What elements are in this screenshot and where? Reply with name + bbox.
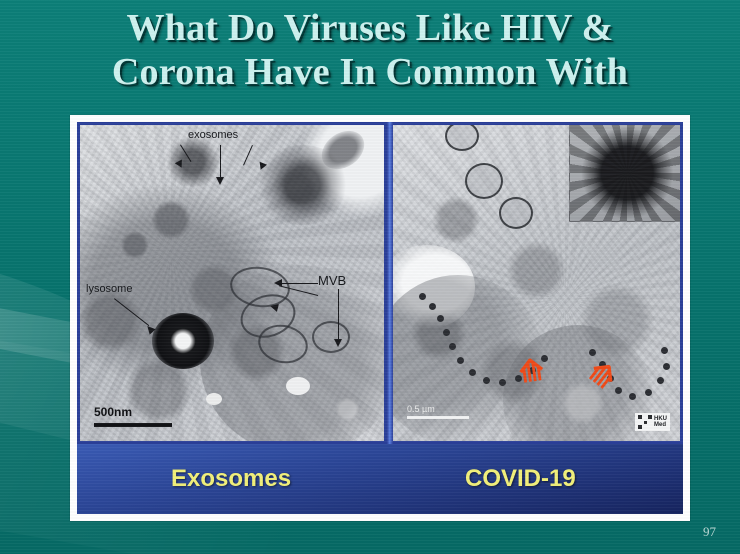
spike-bead (437, 315, 444, 322)
virion-2 (499, 197, 533, 229)
spike-bead (483, 377, 490, 384)
lysosome-organelle (152, 313, 214, 369)
spike-bead (589, 349, 596, 356)
watermark-text: HKU Med (654, 416, 667, 428)
page-title: What Do Viruses Like HIV & Corona Have I… (0, 6, 740, 94)
virion-3 (445, 122, 479, 151)
exosome-cluster-left (162, 137, 224, 187)
watermark-line-2: Med (654, 422, 667, 428)
mvb-vesicle-4 (312, 321, 350, 353)
hku-med-watermark: HKU Med (635, 413, 670, 431)
label-mvb: MVB (318, 273, 346, 288)
watermark-qr-icon (638, 415, 652, 429)
spike-bead (449, 343, 456, 350)
virion-1 (465, 163, 503, 199)
caption-covid19: COVID-19 (465, 465, 576, 493)
left-panel-exosome-tem: exosomes lysosome MVB (77, 122, 387, 444)
label-lysosome: lysosome (86, 283, 132, 295)
slide-number: 97 (703, 524, 716, 540)
title-line-2: Corona Have In Common With (0, 50, 740, 94)
mvb-arrowhead-3 (334, 339, 342, 347)
spike-bead (661, 347, 668, 354)
spike-bead (457, 357, 464, 364)
spike-bead (499, 379, 506, 386)
virion-closeup-inset (569, 125, 680, 222)
presentation-slide: What Do Viruses Like HIV & Corona Have I… (0, 0, 740, 554)
mvb-arrow-1 (280, 283, 318, 284)
label-exosomes: exosomes (188, 129, 238, 141)
exosome-arrowhead-2 (216, 177, 224, 185)
scale-bar-left (94, 423, 172, 427)
figure-inner: exosomes lysosome MVB (77, 122, 683, 514)
spike-bead (429, 303, 436, 310)
caption-bar: Exosomes COVID-19 (77, 444, 683, 514)
annotation-arrow-left: ⟰ (517, 355, 546, 388)
figure-white-frame: exosomes lysosome MVB (70, 115, 690, 521)
micrograph-panels: exosomes lysosome MVB (77, 122, 683, 444)
title-line-1: What Do Viruses Like HIV & (0, 6, 740, 50)
scale-bar-label-right: 0.5 µm (407, 404, 435, 414)
right-panel-covid-tem: ⟰ ⟰ 0.5 µm HKU Med (393, 122, 683, 444)
spike-bead (629, 393, 636, 400)
mvb-arrow-3 (338, 289, 339, 341)
spike-bead (615, 387, 622, 394)
spike-bead (419, 293, 426, 300)
spike-bead (469, 369, 476, 376)
clear-vesicle (286, 377, 310, 395)
spike-bead (443, 329, 450, 336)
scale-bar-label-left: 500nm (94, 405, 132, 419)
clear-vesicle-2 (206, 393, 222, 405)
caption-exosomes: Exosomes (171, 465, 291, 493)
exosome-arrow-2 (220, 145, 221, 179)
spike-bead (663, 363, 670, 370)
spike-bead (645, 389, 652, 396)
spike-bead (657, 377, 664, 384)
scale-bar-right (407, 416, 469, 419)
